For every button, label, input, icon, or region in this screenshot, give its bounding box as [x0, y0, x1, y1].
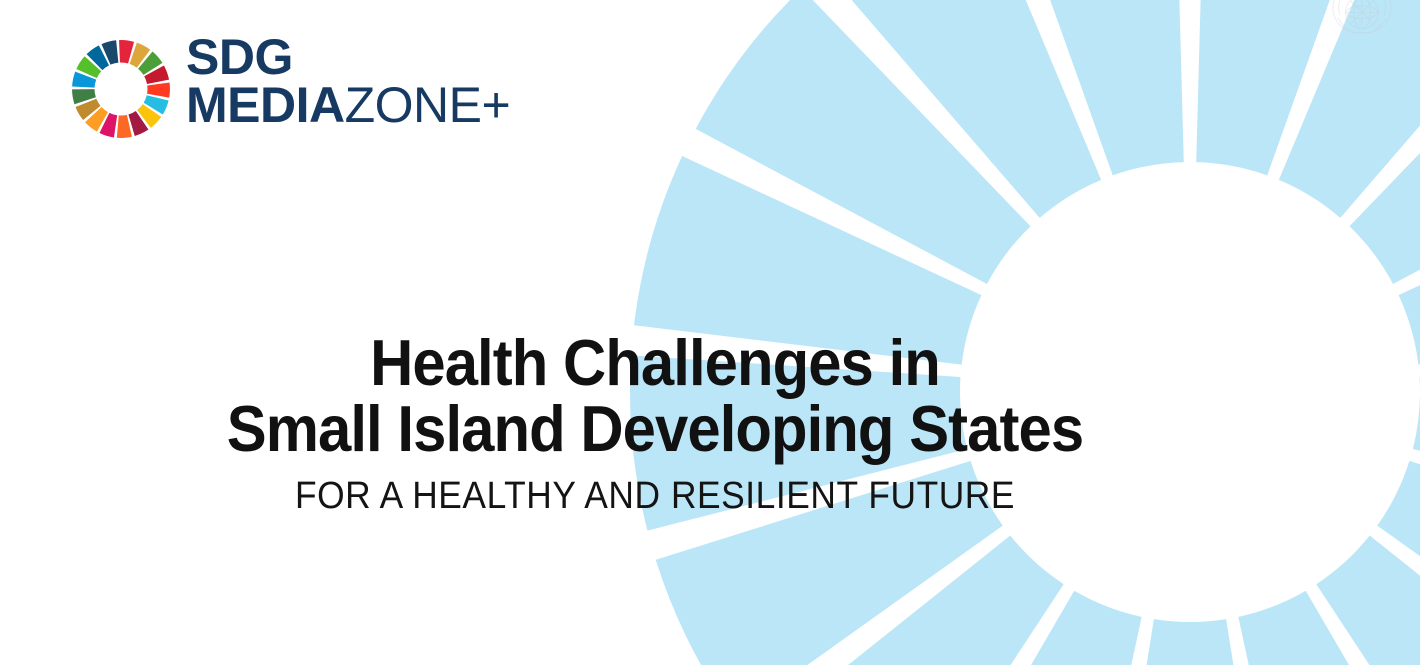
wheel-segment	[824, 0, 1101, 218]
wheel-segment	[752, 536, 1063, 665]
logo-line-sdg: SDG	[186, 34, 510, 80]
page-subtitle: FOR A HEALTHY AND RESILIENT FUTURE	[0, 475, 1366, 518]
title-block: Health Challenges in Small Island Develo…	[0, 330, 1420, 518]
sdg-color-wheel-icon	[70, 38, 172, 140]
sdg-wheel-segment	[147, 83, 170, 98]
sdg-media-zone-logo[interactable]: SDG MEDIAZONE+	[70, 34, 510, 140]
wheel-segment	[908, 591, 1141, 665]
page-title-line-1: Health Challenges in	[0, 330, 1359, 396]
page-title-line-2: Small Island Developing States	[0, 396, 1359, 462]
wheel-segment	[634, 156, 981, 365]
wheel-segment	[1279, 0, 1420, 218]
wheel-segment	[1196, 0, 1378, 175]
wheel-segment	[1316, 536, 1420, 665]
title-card: SDG MEDIAZONE+ Health Challenges in Smal…	[0, 0, 1420, 665]
wheel-segment	[1377, 461, 1420, 665]
logo-wordmark: SDG MEDIAZONE+	[186, 34, 510, 128]
wheel-segment	[630, 355, 967, 530]
logo-line-mediazone: MEDIAZONE+	[186, 82, 510, 128]
wheel-segment	[1238, 591, 1420, 665]
wheel-segment	[656, 461, 1003, 665]
wheel-segment	[1349, 0, 1420, 284]
wheel-segment	[1413, 355, 1420, 530]
wheel-segment	[1399, 156, 1420, 365]
logo-word-zoneplus: ZONE+	[345, 77, 511, 133]
wheel-segment	[1002, 0, 1184, 175]
logo-word-media: MEDIA	[186, 77, 345, 133]
wheel-segment	[696, 0, 1031, 284]
wheel-segment	[1102, 619, 1278, 665]
united-nations-emblem	[1316, 0, 1408, 62]
